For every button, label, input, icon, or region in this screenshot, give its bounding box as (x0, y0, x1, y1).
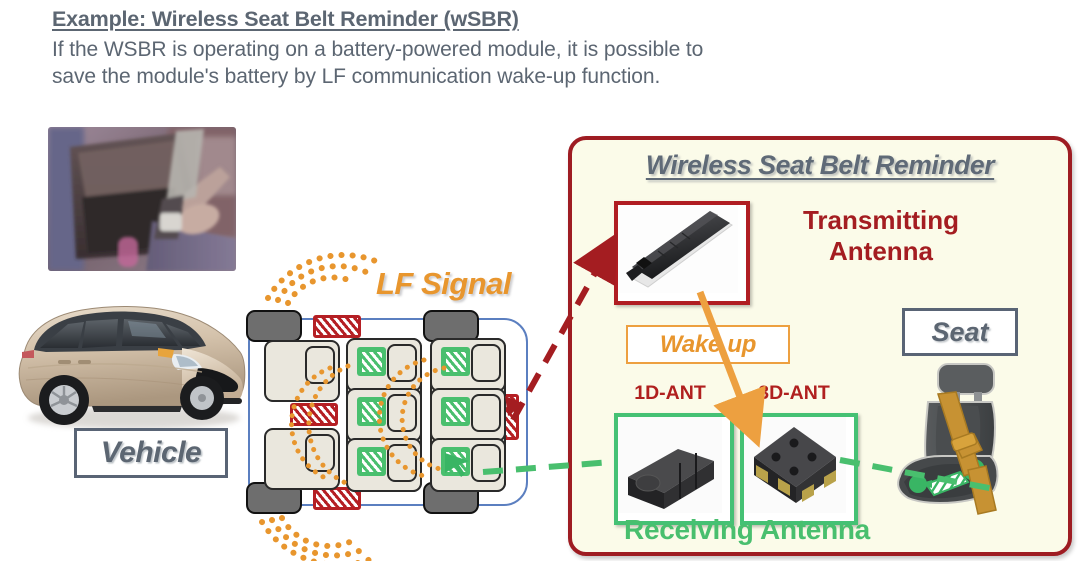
header-body: If the WSBR is operating on a battery-po… (52, 36, 1012, 91)
seat-middle-2 (346, 388, 422, 442)
wake-up-label-box: Wake up (626, 325, 790, 364)
seat-rear-2 (430, 388, 506, 442)
receiving-antenna-zone (357, 397, 386, 426)
transmitting-antenna-top (313, 315, 361, 338)
header-body-line-2: save the module's battery by LF communic… (52, 63, 1012, 91)
antenna-1d-label: 1D-ANT (620, 382, 720, 405)
seat-back (471, 394, 501, 432)
page-title: Example: Wireless Seat Belt Reminder (wS… (52, 6, 1012, 34)
tx-label-line-1: Transmitting (756, 205, 1006, 236)
seat-rear-3 (430, 438, 506, 492)
lf-signal-arcs-bottom (262, 518, 378, 561)
seat-front-left (264, 340, 340, 402)
seat-back (387, 444, 417, 482)
lf-signal-arcs-top (268, 255, 378, 303)
seat-label-text: Seat (931, 317, 988, 348)
seat-back (387, 344, 417, 382)
transmitting-antenna-label: Transmitting Antenna (756, 205, 1006, 266)
receiving-antenna-label: Receiving Antenna (582, 514, 912, 546)
header-block: Example: Wireless Seat Belt Reminder (wS… (52, 6, 1012, 91)
seat-label-box: Seat (902, 308, 1018, 356)
lf-signal-label: LF Signal (376, 266, 511, 302)
wsbr-panel: Wireless Seat Belt Reminder Transmi (568, 136, 1072, 556)
receiving-antenna-zone (441, 397, 470, 426)
panel-title: Wireless Seat Belt Reminder (572, 150, 1068, 181)
receiving-antenna-zone-highlighted (441, 447, 470, 476)
receiving-antenna-zone (357, 447, 386, 476)
header-body-line-1: If the WSBR is operating on a battery-po… (52, 36, 1012, 64)
tx-label-line-2: Antenna (756, 236, 1006, 267)
seat-belt-buckling-photo (48, 127, 236, 271)
wheel-front-left (246, 310, 302, 342)
seat-back (305, 346, 335, 384)
transmitting-antenna-photo (614, 201, 750, 305)
vehicle-label-box: Vehicle (74, 428, 228, 478)
seat-back (387, 394, 417, 432)
seat-middle-1 (346, 338, 422, 392)
transmitting-antenna-middle (290, 403, 338, 426)
antenna-3d-label: 3D-ANT (744, 382, 844, 405)
seat-back (471, 344, 501, 382)
receiving-antenna-zone (357, 347, 386, 376)
1d-antenna-photo (614, 413, 734, 525)
minivan-photo (6, 288, 258, 436)
3d-antenna-photo (740, 413, 858, 525)
receiving-antenna-zone (441, 347, 470, 376)
seat-middle-3 (346, 438, 422, 492)
seat-front-right (264, 428, 340, 490)
vehicle-label-text: Vehicle (101, 436, 201, 470)
wake-up-label: Wake up (660, 331, 756, 359)
vehicle-top-view (236, 310, 541, 510)
seat-rear-1 (430, 338, 506, 392)
car-seat-with-belt-illustration (882, 358, 1032, 520)
seat-back (305, 434, 335, 472)
